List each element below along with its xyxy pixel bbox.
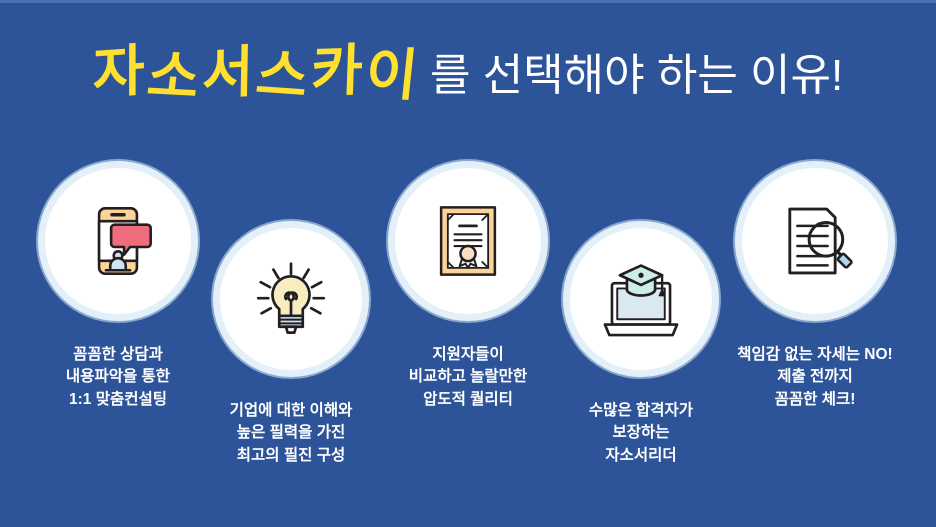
caption-line: 제출 전까지 xyxy=(703,366,927,388)
caption-line: 압도적 퀄리티 xyxy=(369,389,567,411)
certificate-icon xyxy=(426,199,510,283)
feature-circle-2[interactable] xyxy=(220,228,362,370)
caption-line: 내용파악을 통한 xyxy=(22,366,214,388)
laptop-graduation-cap-icon xyxy=(597,255,685,343)
feature-caption-3: 지원자들이 비교하고 놀랄만한 압도적 퀄리티 xyxy=(369,344,567,411)
caption-line: 최고의 필진 구성 xyxy=(186,445,396,467)
caption-line: 자소서리더 xyxy=(540,445,742,467)
feature-circle-1[interactable] xyxy=(45,168,191,314)
poster-canvas: 자소서스카이를 선택해야 하는 이유! xyxy=(0,0,936,527)
document-magnifier-icon xyxy=(773,199,857,283)
top-edge-strip xyxy=(0,0,936,3)
brand-name: 자소서스카이 xyxy=(91,46,422,102)
feature-circle-5[interactable] xyxy=(742,168,888,314)
feature-circle-3[interactable] xyxy=(395,168,541,314)
caption-line: 비교하고 놀랄만한 xyxy=(369,366,567,388)
feature-item-5[interactable]: 책임감 없는 자세는 NO! 제출 전까지 꼼꼼한 체크! xyxy=(742,168,888,314)
caption-line: 꼼꼼한 상담과 xyxy=(22,344,214,366)
caption-line: 지원자들이 xyxy=(369,344,567,366)
feature-item-4[interactable]: 수많은 합격자가 보장하는 자소서리더 xyxy=(570,228,712,370)
smartphone-chat-icon xyxy=(75,198,161,284)
page-title: 자소서스카이를 선택해야 하는 이유! xyxy=(0,46,936,102)
caption-line: 책임감 없는 자세는 NO! xyxy=(703,344,927,366)
feature-item-3[interactable]: 지원자들이 비교하고 놀랄만한 압도적 퀄리티 xyxy=(395,168,541,314)
feature-item-2[interactable]: 기업에 대한 이해와 높은 필력을 가진 최고의 필진 구성 xyxy=(220,228,362,370)
caption-line: 꼼꼼한 체크! xyxy=(703,389,927,411)
caption-line: 보장하는 xyxy=(540,422,742,444)
caption-line: 높은 필력을 가진 xyxy=(186,422,396,444)
feature-caption-5: 책임감 없는 자세는 NO! 제출 전까지 꼼꼼한 체크! xyxy=(703,344,927,411)
caption-line: 기업에 대한 이해와 xyxy=(186,400,396,422)
lightbulb-icon xyxy=(249,257,333,341)
page-title-rest: 를 선택해야 하는 이유! xyxy=(420,54,843,98)
feature-item-1[interactable]: 꼼꼼한 상담과 내용파악을 통한 1:1 맞춤컨설팅 xyxy=(45,168,191,314)
feature-circle-4[interactable] xyxy=(570,228,712,370)
feature-caption-2: 기업에 대한 이해와 높은 필력을 가진 최고의 필진 구성 xyxy=(186,400,396,467)
